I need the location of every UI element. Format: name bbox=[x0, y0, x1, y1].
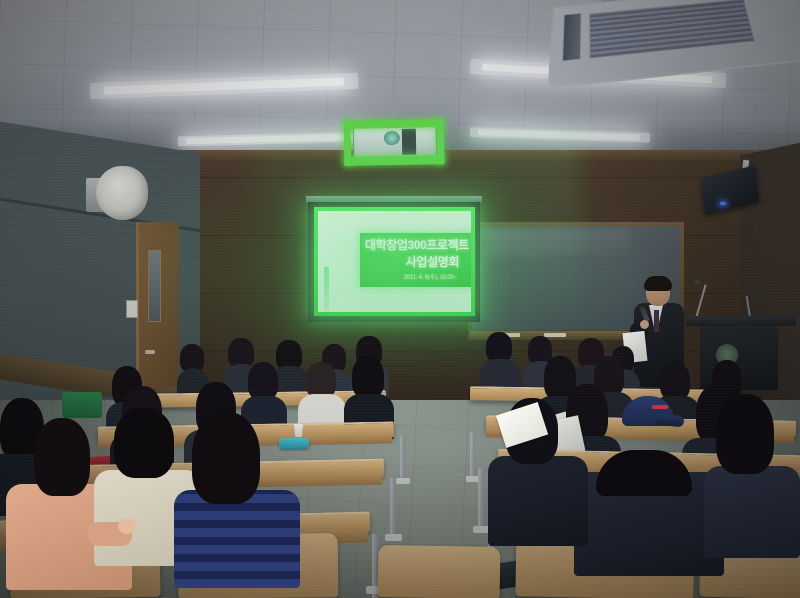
ac-vent-slot bbox=[562, 13, 582, 62]
slide-surface: 대학창업300프로젝트 사업설명회 2011. 4. 6(수). 15:00~ bbox=[318, 211, 471, 312]
pencil-case bbox=[279, 438, 309, 449]
slide-title-line1: 대학창업300프로젝트 bbox=[365, 236, 469, 253]
power-led-icon bbox=[720, 202, 726, 205]
desk-leg bbox=[390, 478, 396, 536]
audience-person-with-cap bbox=[588, 396, 718, 566]
cage-bar-bottom bbox=[344, 155, 444, 166]
cap-logo bbox=[652, 405, 668, 409]
podium-top bbox=[686, 316, 796, 326]
slide-border: 대학창업300프로젝트 사업설명회 2011. 4. 6(수). 15:00~ bbox=[314, 207, 475, 316]
desk-foot bbox=[396, 478, 410, 484]
projector-lens bbox=[384, 131, 400, 145]
baseball-cap bbox=[622, 396, 684, 434]
wall-speaker-icon bbox=[96, 166, 148, 220]
light-switch[interactable] bbox=[126, 300, 138, 318]
slide-title-line2: 사업설명회 bbox=[406, 253, 459, 270]
presenter-hair bbox=[644, 276, 672, 291]
slide-sidebar-accent bbox=[324, 267, 329, 311]
desk-leg bbox=[400, 436, 405, 480]
projection-screen: 대학창업300프로젝트 사업설명회 2011. 4. 6(수). 15:00~ bbox=[308, 202, 480, 322]
presenter-hand bbox=[640, 320, 649, 329]
desk-leg bbox=[478, 468, 484, 528]
lecture-hall-photo: 대학창업300프로젝트 사업설명회 2011. 4. 6(수). 15:00~ bbox=[0, 0, 800, 598]
slide-title-banner: 대학창업300프로젝트 사업설명회 2011. 4. 6(수). 15:00~ bbox=[360, 233, 471, 287]
desk-foot bbox=[385, 534, 402, 541]
projector-vent bbox=[402, 129, 416, 155]
marker-2[interactable] bbox=[544, 333, 566, 337]
lecture-chair bbox=[378, 545, 501, 598]
desk-leg bbox=[470, 432, 475, 478]
door-window bbox=[148, 250, 161, 322]
front-wall-trim bbox=[120, 150, 800, 162]
cage-bar-right bbox=[437, 119, 445, 164]
door-handle[interactable] bbox=[145, 350, 155, 354]
ac-grille bbox=[589, 0, 755, 59]
presenter-tie bbox=[654, 310, 659, 332]
green-bag bbox=[62, 392, 102, 418]
whiteboard-glare bbox=[484, 230, 630, 257]
microphone-icon bbox=[694, 280, 701, 284]
projector-mount-pole bbox=[392, 92, 397, 118]
slide-date-text: 2011. 4. 6(수). 15:00~ bbox=[404, 272, 457, 281]
classroom-door[interactable] bbox=[136, 222, 179, 387]
projector-cage bbox=[344, 117, 445, 167]
cage-bar-left bbox=[344, 121, 352, 166]
